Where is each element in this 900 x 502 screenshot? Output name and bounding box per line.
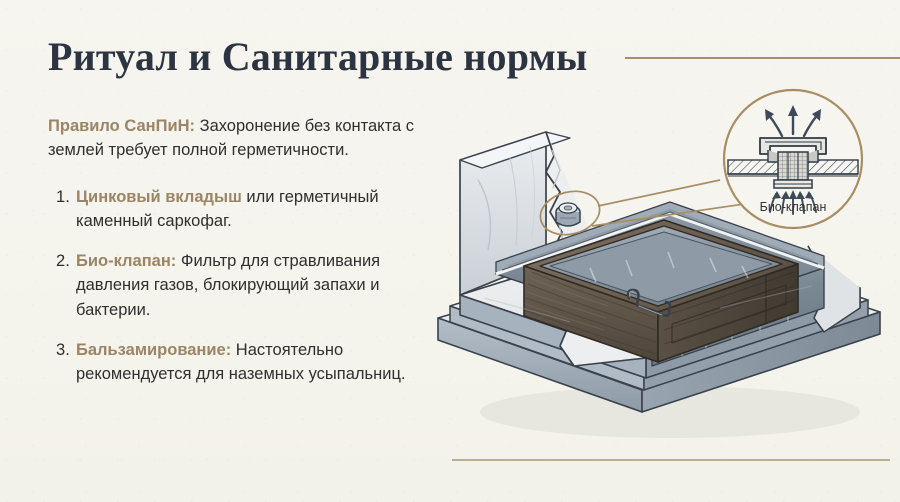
lead-label: Правило СанПиН:: [48, 117, 195, 135]
title-row: Ритуал и Санитарные нормы: [48, 30, 900, 84]
lead-paragraph: Правило СанПиН: Захоронение без контакта…: [48, 114, 418, 163]
list-item: Цинковый вкладыш или герметичный каменны…: [48, 185, 418, 234]
rules-list: Цинковый вкладыш или герметичный каменны…: [48, 185, 418, 387]
list-item: Бальзамирование: Настоятельно рекомендуе…: [48, 338, 418, 387]
bio-valve-cap: [556, 203, 580, 226]
page-title: Ритуал и Санитарные нормы: [48, 37, 587, 77]
bottom-divider-rule: [452, 459, 890, 461]
rule-label: Цинковый вкладыш: [76, 188, 242, 206]
rule-label: Био-клапан:: [76, 252, 176, 270]
inset-label: Био-клапан: [722, 200, 864, 214]
rule-label: Бальзамирование:: [76, 341, 231, 359]
list-item: Био-клапан: Фильтр для стравливания давл…: [48, 249, 418, 322]
text-column: Правило СанПиН: Захоронение без контакта…: [48, 114, 418, 402]
title-divider-rule: [625, 57, 900, 59]
